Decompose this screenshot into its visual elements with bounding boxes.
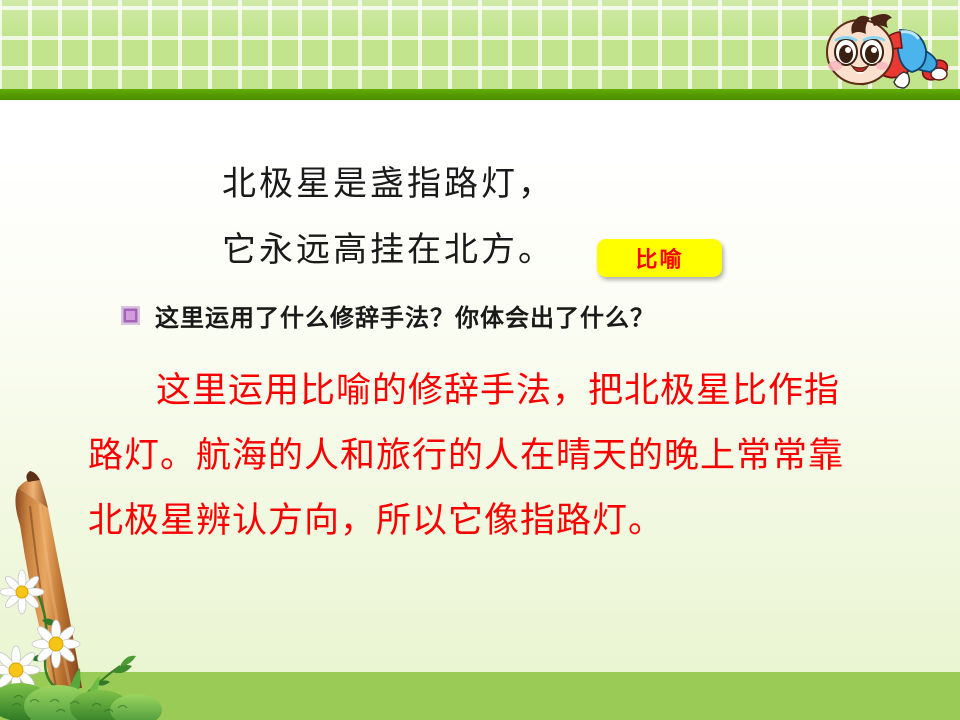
badge-label: 比喻: [635, 242, 683, 274]
question-row: 这里运用了什么修辞手法？你体会出了什么？: [120, 298, 655, 333]
answer-line-1: 这里运用比喻的修辞手法，把北极星比作指: [88, 358, 888, 423]
slide-header: [0, 0, 960, 100]
pencil-and-flowers-decoration: [0, 470, 230, 720]
crawling-baby-mascot-icon: [808, 8, 958, 100]
slide-canvas: 北极星是盏指路灯， 它永远高挂在北方。 比喻 这里运用了什么修辞手法？你体会出了…: [0, 0, 960, 720]
rhetoric-badge[interactable]: 比喻: [597, 239, 722, 277]
poem-line-1: 北极星是盏指路灯，: [222, 152, 742, 218]
question-text: 这里运用了什么修辞手法？你体会出了什么？: [155, 298, 655, 333]
purple-square-bullet-icon: [120, 305, 141, 326]
